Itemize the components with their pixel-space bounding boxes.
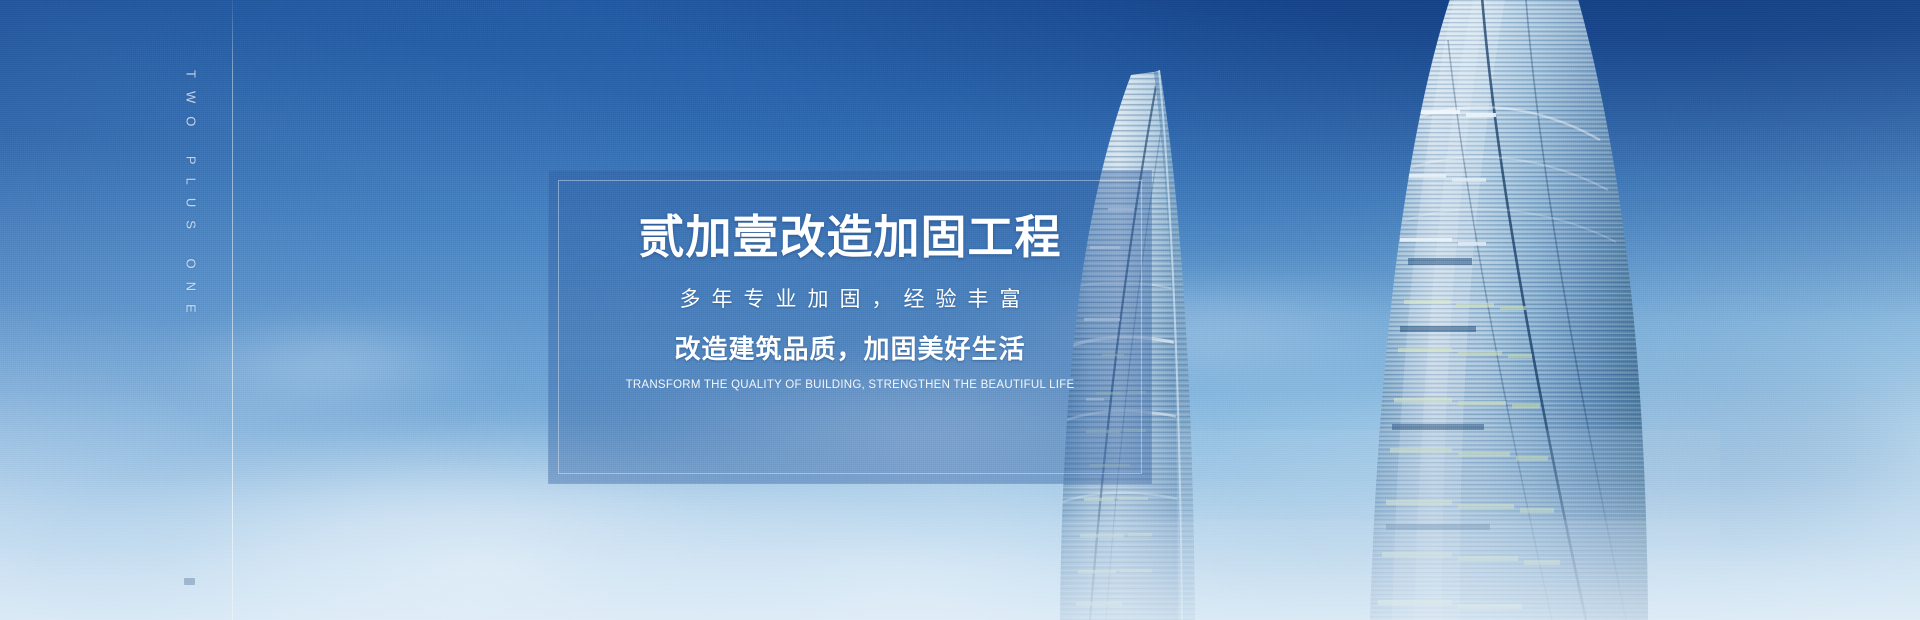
- hero-headline: 贰加壹改造加固工程: [639, 214, 1062, 260]
- hero-text-panel: 贰加壹改造加固工程 多年专业加固，经验丰富 改造建筑品质，加固美好生活 TRAN…: [548, 170, 1152, 484]
- small-mark: [184, 578, 195, 585]
- skyscraper-towers-image: [1060, 0, 1920, 620]
- hero-subheadline: 多年专业加固，经验丰富: [669, 289, 1032, 310]
- panel-content: 贰加壹改造加固工程 多年专业加固，经验丰富 改造建筑品质，加固美好生活 TRAN…: [548, 170, 1152, 484]
- vertical-divider-line-icon: [232, 0, 233, 620]
- vertical-brand-label: TWO PLUS ONE: [163, 70, 219, 310]
- banner-hero: TWO PLUS ONE 贰加壹改造加固工程 多年专业加固，经验丰富 改造建筑品…: [0, 0, 1920, 620]
- hero-tagline: 改造建筑品质，加固美好生活: [674, 336, 1025, 362]
- hero-english-tagline: TRANSFORM THE QUALITY OF BUILDING, STREN…: [626, 380, 1075, 392]
- vertical-brand-label-text: TWO PLUS ONE: [184, 70, 199, 326]
